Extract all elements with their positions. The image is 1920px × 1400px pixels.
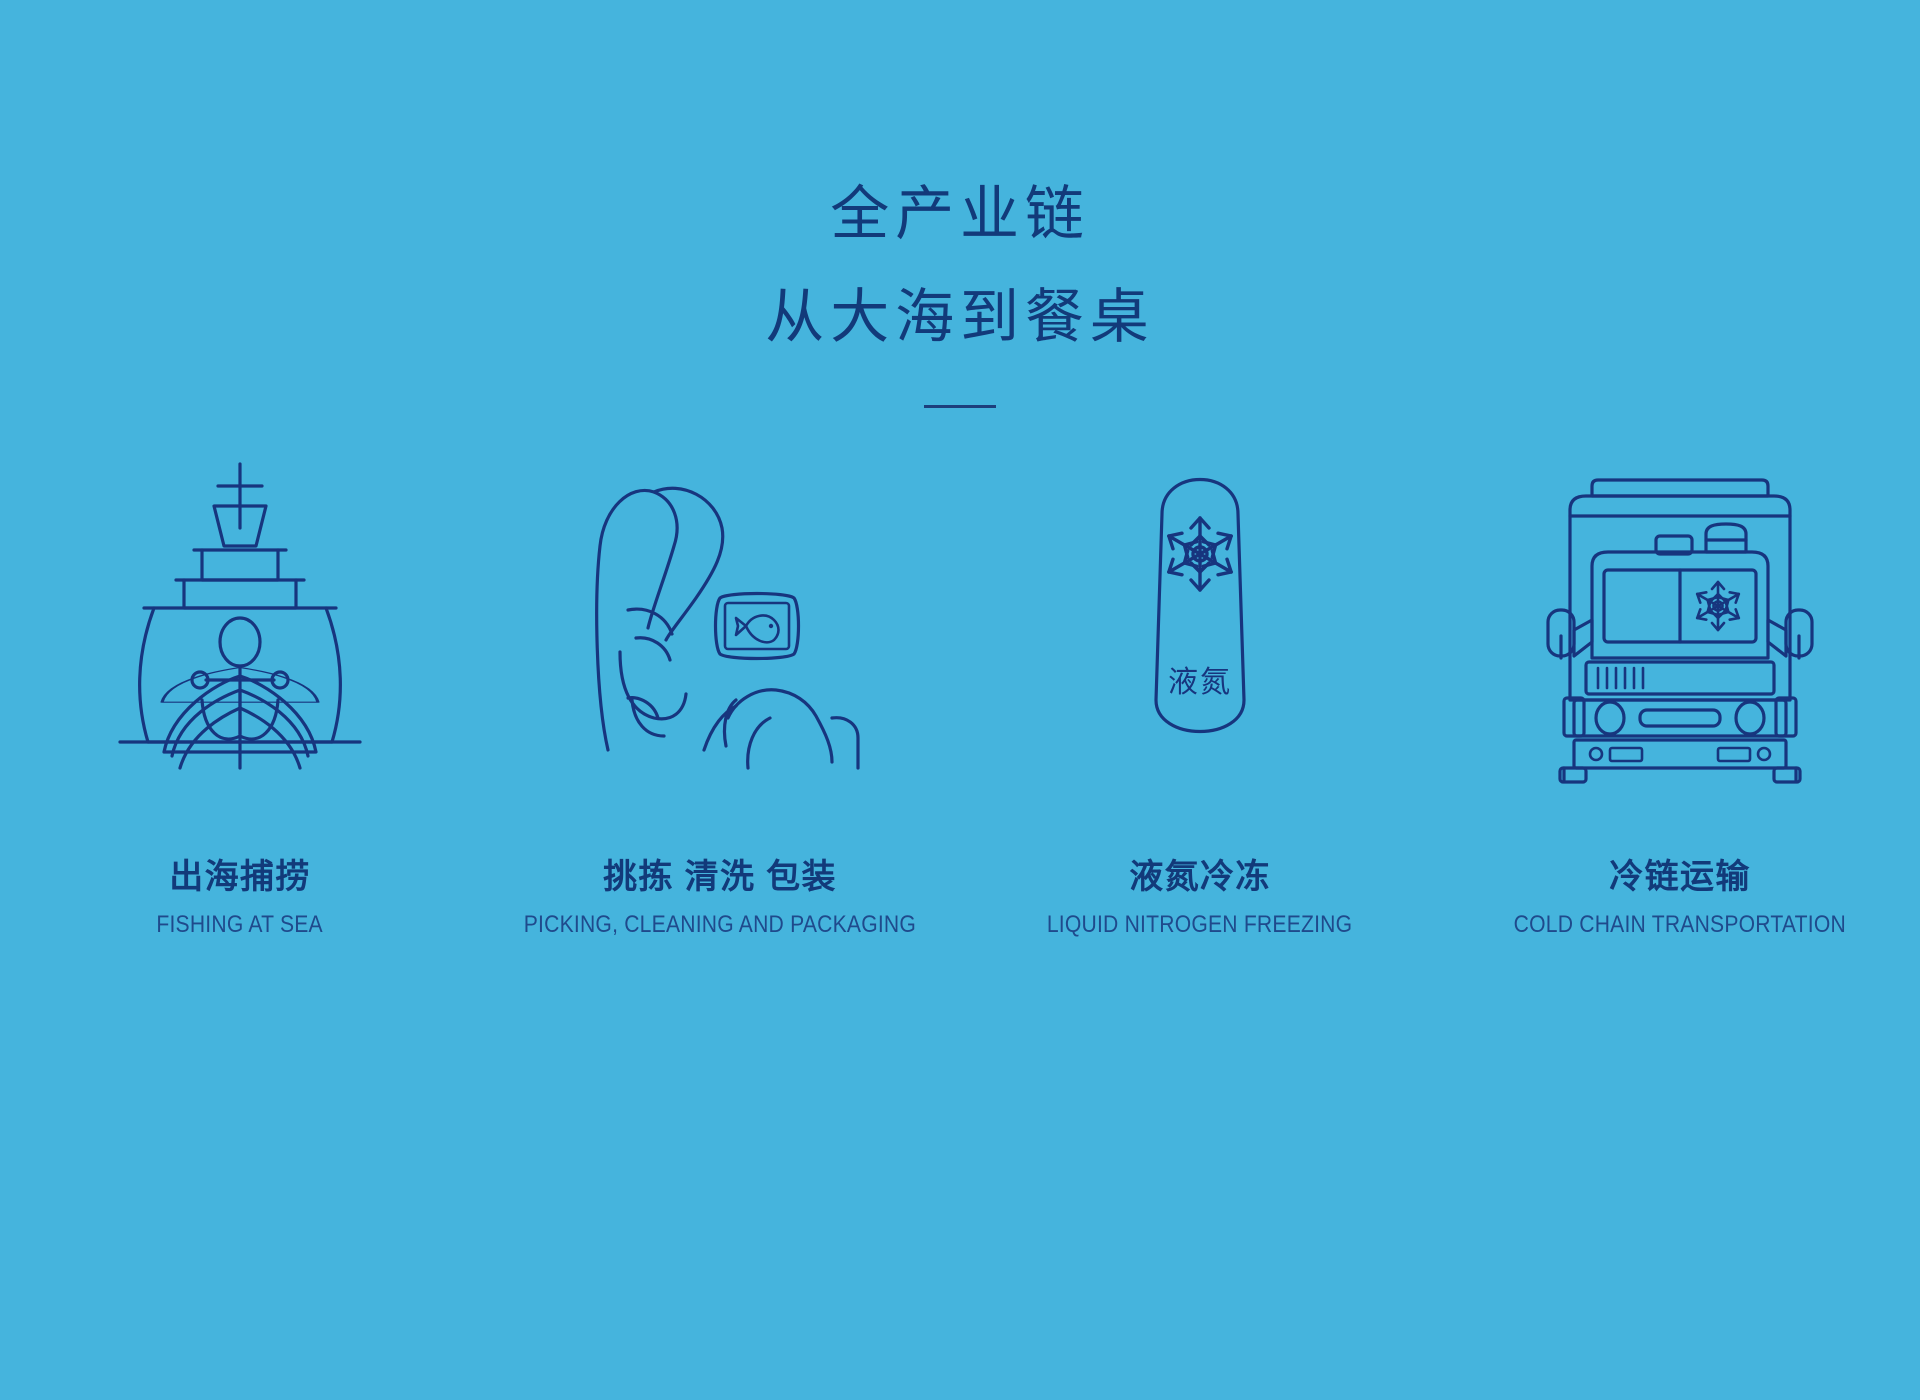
- step-picking-cleaning-packaging: 挑拣 清洗 包装 PICKING, CLEANING AND PACKAGING: [480, 430, 960, 939]
- snowflake-icon: [1694, 582, 1742, 630]
- step-captions: 液氮冷冻 LIQUID NITROGEN FREEZING: [1026, 858, 1373, 939]
- icon-container: [570, 430, 870, 780]
- icon-container: [110, 430, 370, 780]
- header: 全产业链 从大海到餐桌: [0, 0, 1920, 408]
- step-captions: 挑拣 清洗 包装 PICKING, CLEANING AND PACKAGING: [497, 858, 943, 939]
- step-label-en: LIQUID NITROGEN FREEZING: [1047, 911, 1352, 939]
- step-captions: 冷链运输 COLD CHAIN TRANSPORTATION: [1491, 858, 1869, 939]
- page-title-primary: 全产业链: [0, 185, 1920, 244]
- refrigerated-truck-icon: [1530, 450, 1830, 780]
- infographic-page: 全产业链 从大海到餐桌: [0, 0, 1920, 1400]
- hands-with-packaged-fish-icon: [570, 450, 870, 780]
- title-divider: [924, 405, 996, 408]
- icon-container: [1530, 430, 1830, 780]
- process-steps: 出海捕捞 FISHING AT SEA: [0, 430, 1920, 939]
- page-title-secondary: 从大海到餐桌: [0, 288, 1920, 347]
- step-label-en: PICKING, CLEANING AND PACKAGING: [524, 911, 916, 939]
- step-label-cn: 液氮冷冻: [1026, 858, 1373, 897]
- liquid-nitrogen-tank-icon: 液氮: [1110, 450, 1290, 780]
- step-label-en: COLD CHAIN TRANSPORTATION: [1514, 911, 1846, 939]
- step-label-cn: 冷链运输: [1491, 858, 1869, 897]
- step-cold-chain-transportation: 冷链运输 COLD CHAIN TRANSPORTATION: [1440, 430, 1920, 939]
- step-label-cn: 出海捕捞: [145, 858, 334, 897]
- fishing-boat-with-anchor-icon: [110, 450, 370, 780]
- step-captions: 出海捕捞 FISHING AT SEA: [145, 858, 334, 939]
- icon-container: 液氮: [1110, 430, 1290, 780]
- step-fishing-at-sea: 出海捕捞 FISHING AT SEA: [0, 430, 480, 939]
- snowflake-icon: [1164, 518, 1235, 590]
- step-label-cn: 挑拣 清洗 包装: [497, 858, 943, 897]
- tank-label-text: 液氮: [1168, 666, 1232, 699]
- step-label-en: FISHING AT SEA: [157, 911, 323, 939]
- step-liquid-nitrogen-freezing: 液氮 液氮冷冻 LIQUID NITROGEN FREEZING: [960, 430, 1440, 939]
